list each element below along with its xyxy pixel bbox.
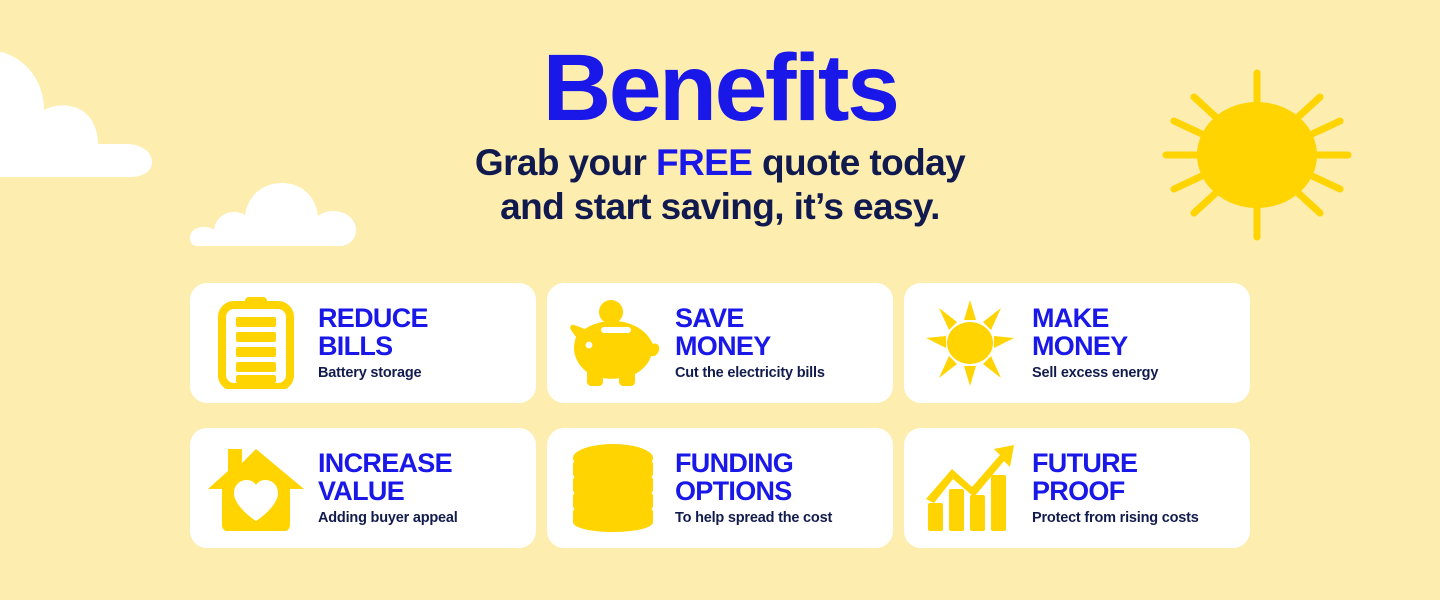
benefit-card-make-money[interactable]: MAKE MONEY Sell excess energy <box>904 283 1250 403</box>
subtitle-part-2: quote today <box>752 142 965 183</box>
page-subtitle: Grab your FREE quote today and start sav… <box>0 141 1440 228</box>
piggy-bank-icon <box>565 295 661 391</box>
benefit-title: FUNDING OPTIONS <box>675 450 832 506</box>
benefit-card-future-proof[interactable]: FUTURE PROOF Protect from rising costs <box>904 428 1250 548</box>
subtitle-line-2: and start saving, it’s easy. <box>500 186 940 227</box>
battery-icon <box>208 295 304 391</box>
benefit-title: MAKE MONEY <box>1032 305 1158 361</box>
benefit-title: REDUCE BILLS <box>318 305 428 361</box>
benefit-subtitle: Battery storage <box>318 365 428 381</box>
benefit-card-text: INCREASE VALUE Adding buyer appeal <box>318 450 458 527</box>
page-header: Benefits Grab your FREE quote today and … <box>0 42 1440 228</box>
benefit-card-text: FUNDING OPTIONS To help spread the cost <box>675 450 832 527</box>
benefit-title: INCREASE VALUE <box>318 450 458 506</box>
subtitle-highlight-free: FREE <box>656 142 752 183</box>
benefit-title: FUTURE PROOF <box>1032 450 1199 506</box>
benefit-card-increase-value[interactable]: INCREASE VALUE Adding buyer appeal <box>190 428 536 548</box>
benefit-card-text: SAVE MONEY Cut the electricity bills <box>675 305 825 382</box>
benefit-card-text: MAKE MONEY Sell excess energy <box>1032 305 1158 382</box>
benefit-subtitle: Adding buyer appeal <box>318 510 458 526</box>
coin-stack-icon <box>565 440 661 536</box>
benefit-title: SAVE MONEY <box>675 305 825 361</box>
benefits-grid: REDUCE BILLS Battery storage SAVE MONEY … <box>190 283 1250 548</box>
subtitle-part-1: Grab your <box>475 142 656 183</box>
benefit-card-text: REDUCE BILLS Battery storage <box>318 305 428 382</box>
benefit-subtitle: Protect from rising costs <box>1032 510 1199 526</box>
page-title: Benefits <box>0 42 1440 135</box>
benefit-subtitle: Sell excess energy <box>1032 365 1158 381</box>
benefit-card-funding-options[interactable]: FUNDING OPTIONS To help spread the cost <box>547 428 893 548</box>
benefit-subtitle: Cut the electricity bills <box>675 365 825 381</box>
benefit-card-text: FUTURE PROOF Protect from rising costs <box>1032 450 1199 527</box>
growth-chart-icon <box>922 440 1018 536</box>
benefit-card-save-money[interactable]: SAVE MONEY Cut the electricity bills <box>547 283 893 403</box>
sun-icon <box>922 295 1018 391</box>
house-heart-icon <box>208 440 304 536</box>
benefit-card-reduce-bills[interactable]: REDUCE BILLS Battery storage <box>190 283 536 403</box>
benefit-subtitle: To help spread the cost <box>675 510 832 526</box>
